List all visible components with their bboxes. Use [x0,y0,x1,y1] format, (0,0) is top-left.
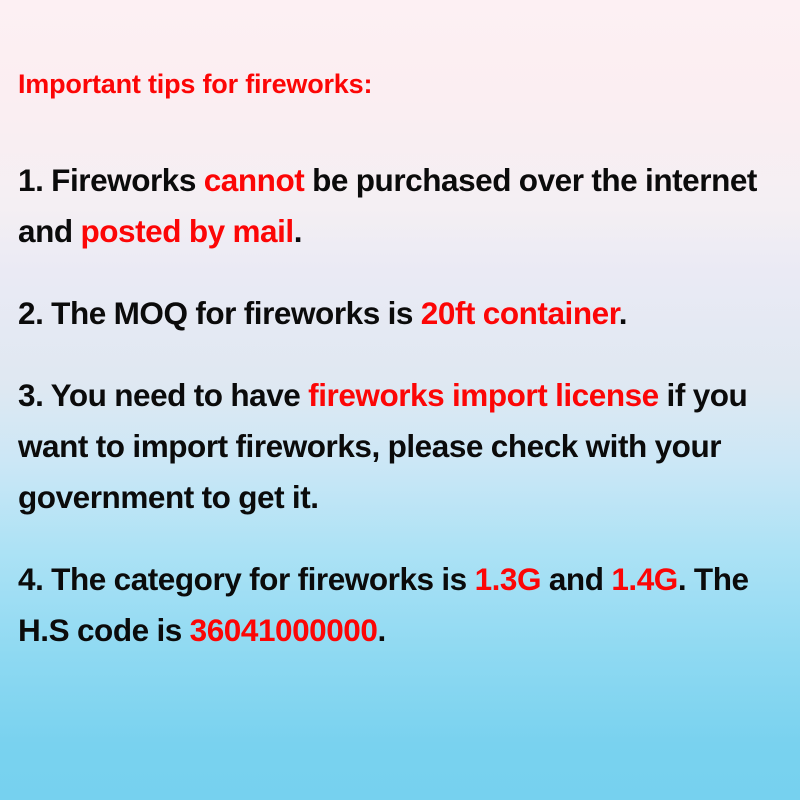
body-text: . [619,295,627,331]
body-text: . [377,612,385,648]
list-item: 4. The category for fireworks is 1.3G an… [18,554,778,656]
highlighted-text: 20ft container [421,295,619,331]
list-item: 1. Fireworks cannot be purchased over th… [18,155,778,257]
highlighted-text: 1.3G [475,561,542,597]
body-text: and [541,561,611,597]
highlighted-text: cannot [204,162,305,198]
list-item: 3. You need to have fireworks import lic… [18,370,778,523]
highlighted-text: fireworks import license [308,377,659,413]
body-text: . [294,213,302,249]
body-text: 3. You need to have [18,377,308,413]
tips-list: 1. Fireworks cannot be purchased over th… [18,155,778,656]
list-item: 2. The MOQ for fireworks is 20ft contain… [18,288,778,339]
highlighted-text: 1.4G [611,561,678,597]
page-title: Important tips for fireworks: [18,70,372,100]
fireworks-tips-notice: Important tips for fireworks: 1. Firewor… [0,0,800,800]
highlighted-text: posted by mail [80,213,293,249]
highlighted-text: 36041000000 [190,612,378,648]
body-text: 1. Fireworks [18,162,204,198]
body-text: 4. The category for fireworks is [18,561,475,597]
body-text: 2. The MOQ for fireworks is [18,295,421,331]
